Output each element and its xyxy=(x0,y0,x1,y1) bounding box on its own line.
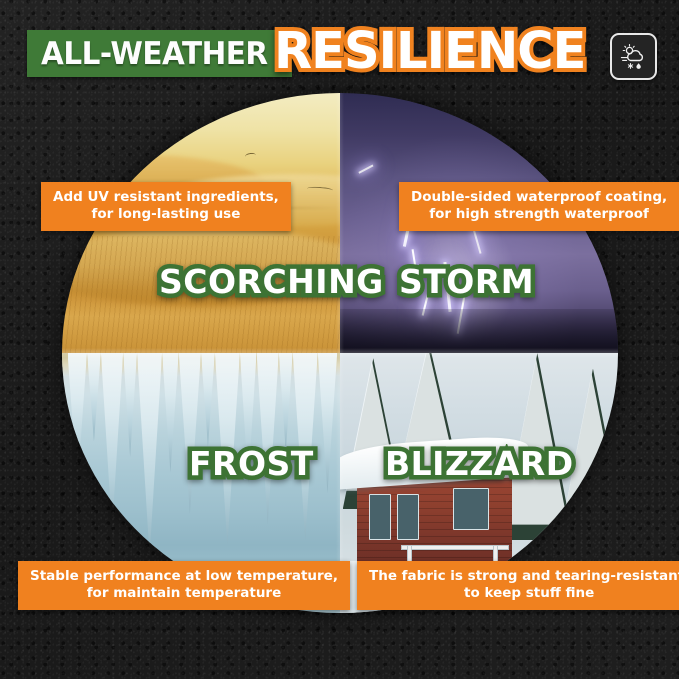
label-scorching: SCORCHING xyxy=(159,262,384,301)
label-storm: STORM xyxy=(399,262,534,301)
callout-line-2: for long-lasting use xyxy=(53,206,279,223)
callout-frost: Stable performance at low temperature, f… xyxy=(18,561,350,610)
cabin xyxy=(357,473,513,572)
callout-line-1: Double-sided waterproof coating, xyxy=(411,189,667,206)
callout-line-2: for maintain temperature xyxy=(30,585,338,602)
lightning-bolt xyxy=(473,228,482,253)
icicle xyxy=(279,353,293,452)
storm-horizon xyxy=(340,309,618,353)
callout-line-2: to keep stuff fine xyxy=(369,585,679,602)
header-title-secondary: RESILIENCE xyxy=(274,22,585,81)
pine-tree-snow xyxy=(565,374,618,509)
callout-scorching: Add UV resistant ingredients, for long-l… xyxy=(41,182,291,231)
icicle xyxy=(87,353,101,441)
icicle xyxy=(162,353,179,473)
icicle xyxy=(68,353,87,488)
icicle xyxy=(201,353,215,447)
lightning-bolt xyxy=(358,164,373,173)
icicle xyxy=(179,353,201,514)
label-frost: FROST xyxy=(189,444,314,483)
sun-cloud-rain-snow-wind-icon xyxy=(619,42,649,72)
icicle xyxy=(101,353,123,530)
weather-badge xyxy=(610,33,657,80)
callout-storm: Double-sided waterproof coating, for hig… xyxy=(399,182,679,231)
icicle xyxy=(257,353,279,525)
callout-line-2: for high strength waterproof xyxy=(411,206,667,223)
icicle xyxy=(318,353,337,493)
cabin-window xyxy=(453,488,489,530)
callout-line-1: The fabric is strong and tearing-resista… xyxy=(369,568,679,585)
weather-collage-circle xyxy=(62,93,618,613)
header-title-primary: ALL-WEATHER xyxy=(41,36,268,72)
label-blizzard: BLIZZARD xyxy=(385,444,574,483)
bird-icon xyxy=(245,152,257,159)
icicle xyxy=(123,353,137,457)
pine-tree-snow xyxy=(404,353,451,449)
callout-line-1: Add UV resistant ingredients, xyxy=(53,189,279,206)
callout-blizzard: The fabric is strong and tearing-resista… xyxy=(357,561,679,610)
poster-canvas: ALL-WEATHER RESILIENCE xyxy=(0,0,679,679)
cabin-window xyxy=(397,494,419,539)
callout-line-1: Stable performance at low temperature, xyxy=(30,568,338,585)
icicle xyxy=(137,353,162,556)
header-green-banner: ALL-WEATHER xyxy=(27,30,292,77)
cabin-window xyxy=(369,494,391,539)
